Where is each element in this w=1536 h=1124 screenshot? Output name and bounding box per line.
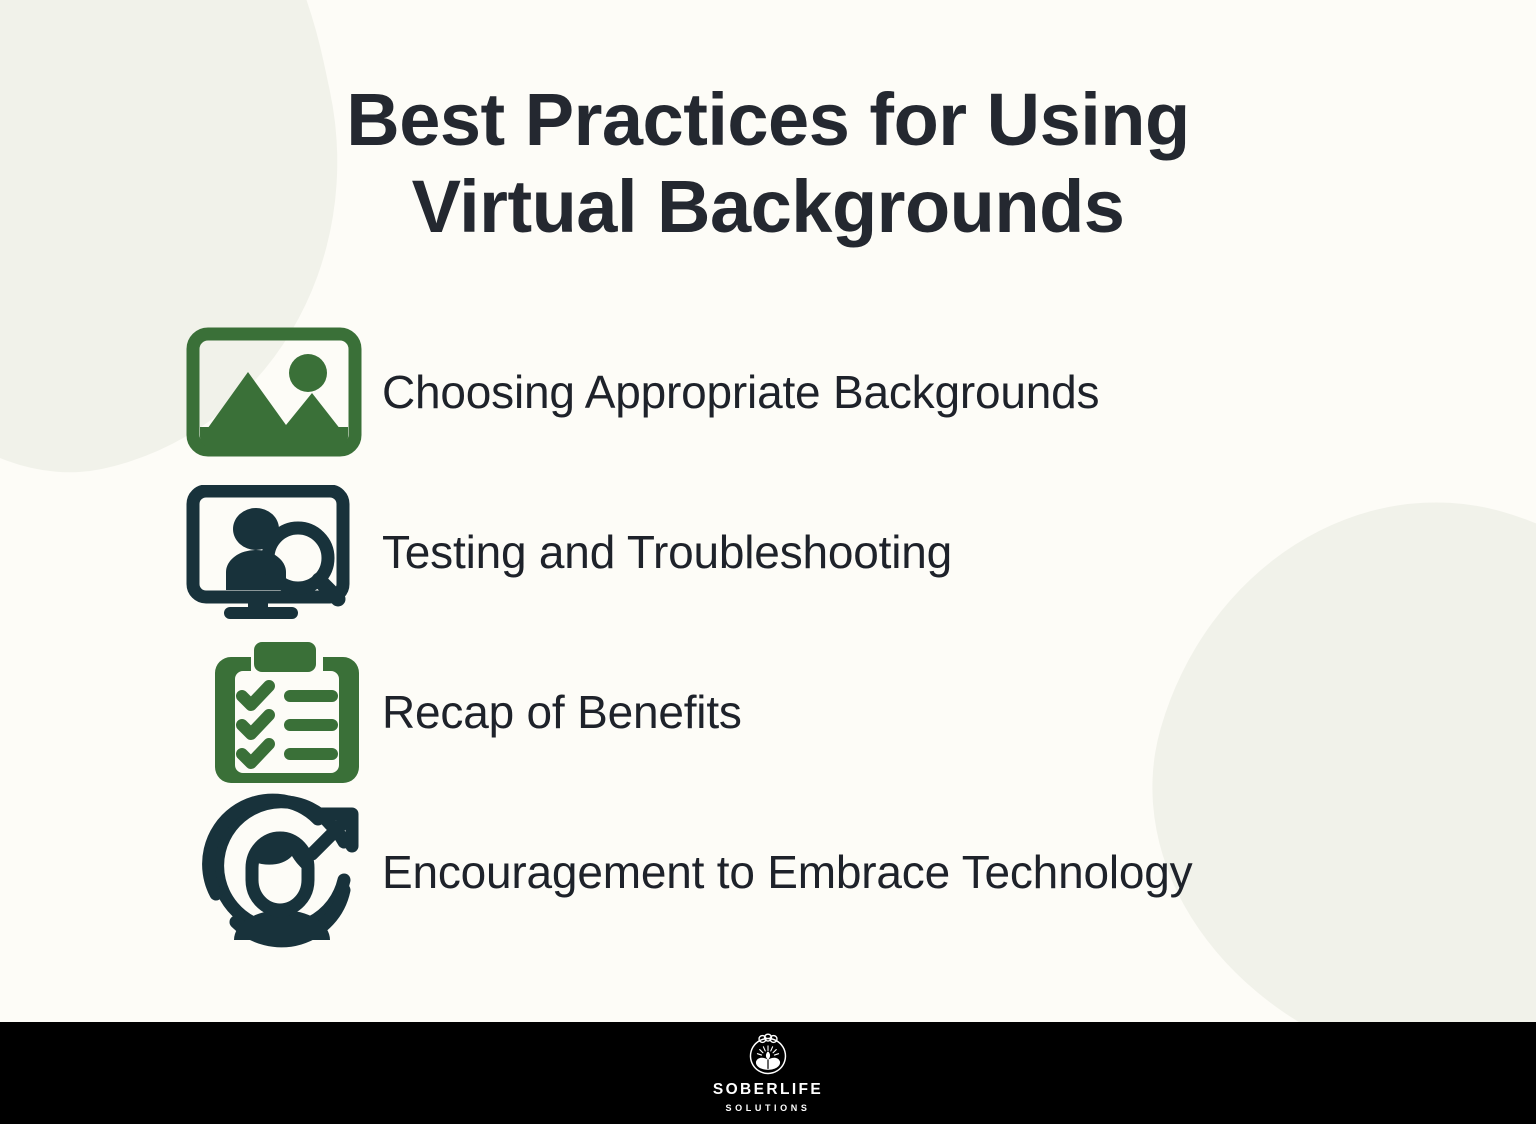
person-growth-arrow-icon	[196, 792, 366, 952]
slide-canvas: Best Practices for Using Virtual Backgro…	[0, 0, 1536, 1124]
icon-slot	[186, 797, 382, 947]
footer-bar: SOBERLIFE SOLUTIONS	[0, 1022, 1536, 1124]
list-item: Choosing Appropriate Backgrounds	[186, 312, 1436, 472]
icon-slot	[186, 317, 382, 467]
clipboard-checklist-icon	[202, 637, 378, 787]
logo-name: SOBERLIFE	[713, 1082, 823, 1098]
list-item-label: Encouragement to Embrace Technology	[382, 845, 1192, 899]
list-item: Encouragement to Embrace Technology	[186, 792, 1436, 952]
list-item: Recap of Benefits	[186, 632, 1436, 792]
bullet-list: Choosing Appropriate Backgrounds Testing…	[186, 312, 1436, 952]
list-item: Testing and Troubleshooting	[186, 472, 1436, 632]
list-item-label: Choosing Appropriate Backgrounds	[382, 365, 1099, 419]
image-picture-icon	[186, 327, 362, 457]
icon-slot	[186, 637, 382, 787]
page-title: Best Practices for Using Virtual Backgro…	[0, 76, 1536, 251]
soberlife-lotus-hands-emblem-icon	[745, 1033, 791, 1079]
list-item-label: Testing and Troubleshooting	[382, 525, 952, 579]
icon-slot	[186, 477, 382, 627]
list-item-label: Recap of Benefits	[382, 685, 742, 739]
logo-subtitle: SOLUTIONS	[726, 1104, 811, 1113]
monitor-person-search-icon	[186, 485, 366, 620]
